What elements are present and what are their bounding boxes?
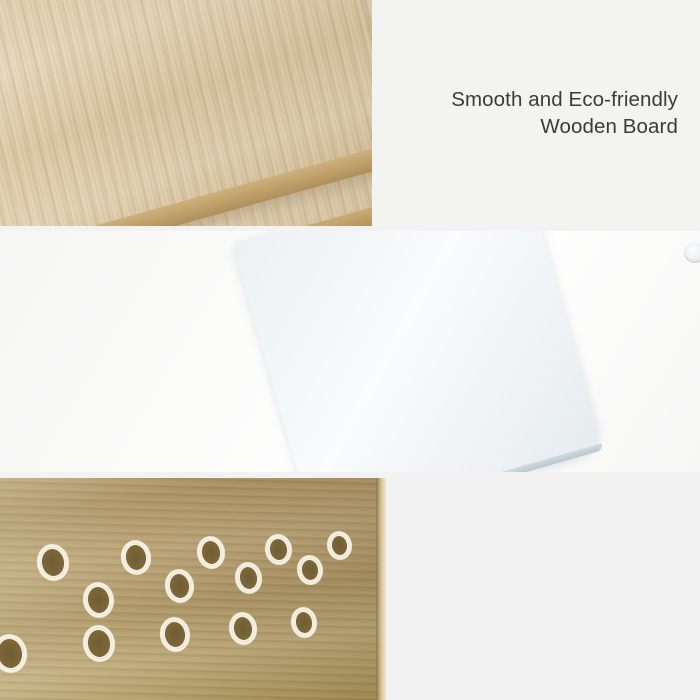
panel-wooden-board: Smooth and Eco-friendly Wooden Board	[0, 0, 700, 226]
vent-hole	[166, 570, 193, 601]
vent-hole	[84, 626, 115, 661]
panel-exhaust-vent: Exhaust Vent	[0, 478, 700, 700]
vent-hole	[198, 537, 224, 567]
vent-hole	[328, 533, 350, 559]
vent-hole	[0, 635, 26, 672]
vent-hole	[161, 618, 189, 650]
caption-wooden-board: Smooth and Eco-friendly Wooden Board	[451, 86, 678, 140]
vent-board-right-edge	[376, 478, 386, 700]
vent-hole	[298, 557, 322, 584]
vent-hole	[84, 583, 113, 617]
acrylic-screw-right	[684, 243, 700, 263]
vent-hole	[292, 609, 316, 637]
vent-hole	[230, 613, 256, 643]
vent-hole	[266, 536, 291, 564]
vent-hole	[122, 541, 150, 573]
vent-hole	[38, 545, 69, 580]
panel-protective-film: Pls tear off the protective film on both…	[0, 231, 700, 472]
hand-peeling-film	[332, 467, 700, 472]
vent-hole	[236, 564, 261, 593]
product-feature-image: Smooth and Eco-friendly Wooden Board Pls…	[0, 0, 700, 700]
acrylic-panel	[232, 231, 603, 472]
wooden-board-photo	[0, 0, 372, 226]
